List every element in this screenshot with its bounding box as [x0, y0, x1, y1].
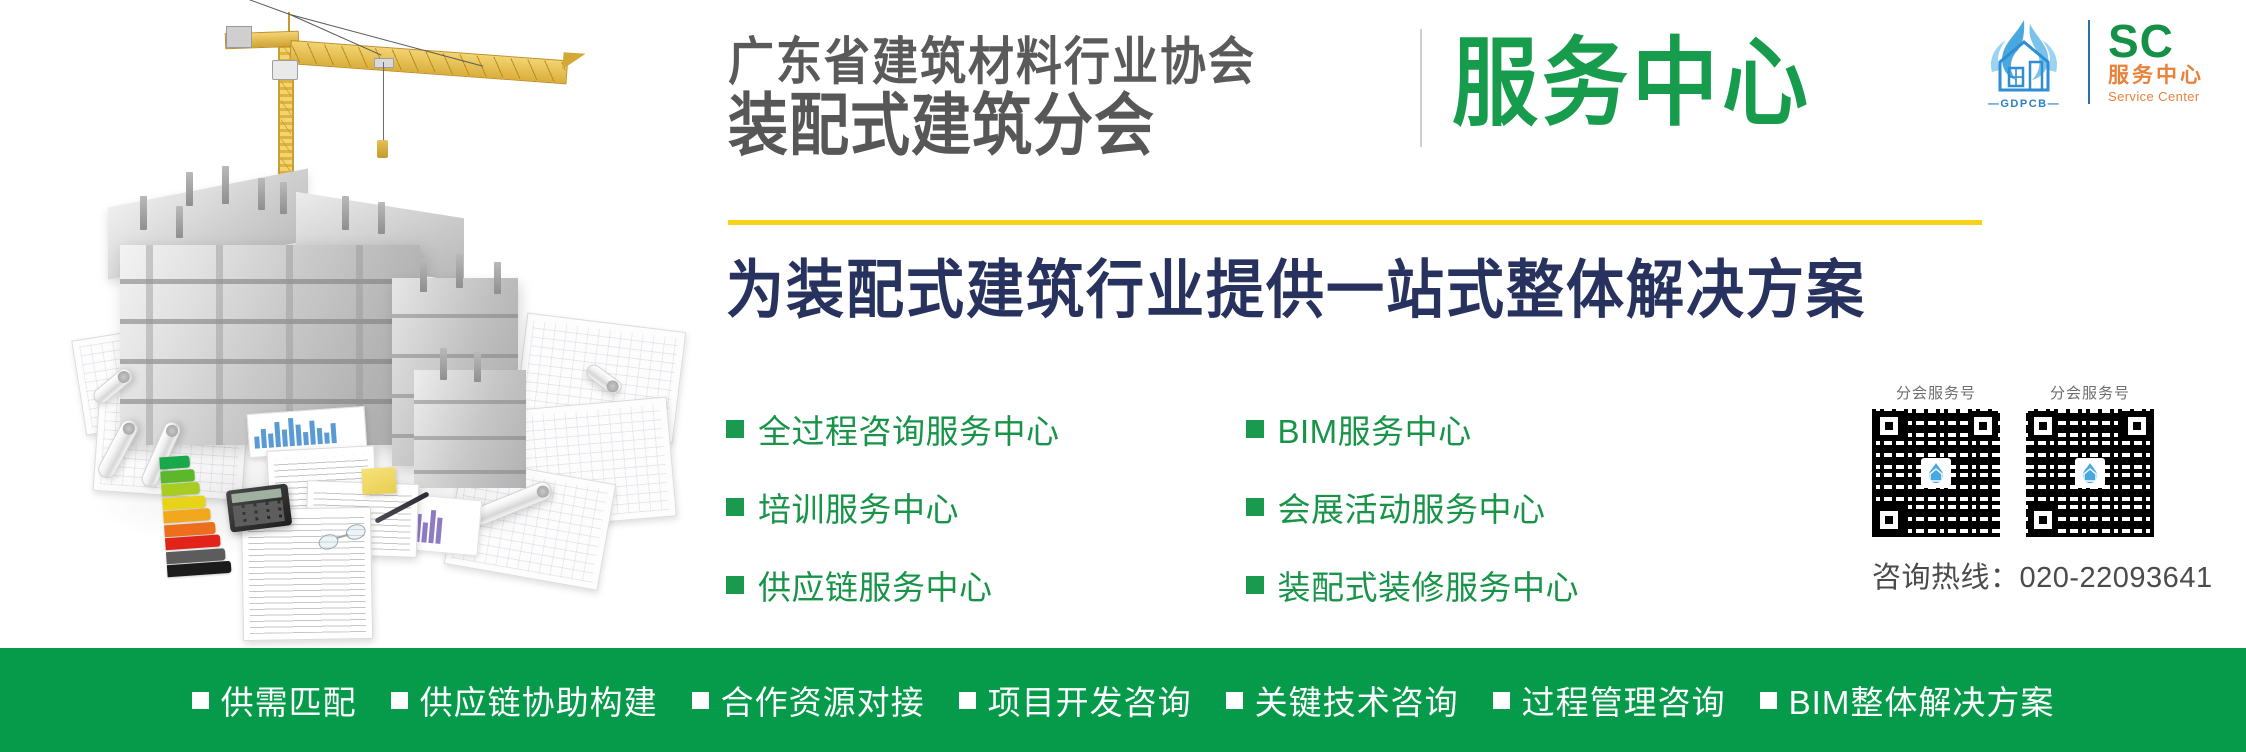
footer-label: 过程管理咨询 — [1522, 676, 1726, 724]
qr-embedded-logo-icon — [2075, 458, 2105, 488]
energy-grade-bar — [162, 495, 205, 510]
sc-chinese-label: 服务中心 — [2108, 65, 2204, 86]
square-bullet-icon — [726, 576, 744, 594]
footer-label: 供应链协助构建 — [420, 676, 658, 724]
square-bullet-icon — [192, 692, 209, 709]
service-list-left: 全过程咨询服务中心 培训服务中心 供应链服务中心 — [726, 405, 1060, 609]
list-item[interactable]: 培训服务中心 — [726, 483, 1060, 531]
qr-code-cell[interactable]: 分会服务号 — [1872, 382, 2000, 537]
qr-caption: 分会服务号 — [2050, 382, 2130, 403]
energy-grade-bar — [160, 469, 195, 483]
service-center-lists: 全过程咨询服务中心 培训服务中心 供应链服务中心 BIM服务中心 会展活动服务中… — [726, 405, 1579, 609]
service-label: 培训服务中心 — [758, 483, 959, 531]
crane-hook — [377, 140, 388, 158]
list-item[interactable]: 会展活动服务中心 — [1246, 483, 1580, 531]
footer-label: 合作资源对接 — [721, 676, 925, 724]
service-label: 供应链服务中心 — [758, 561, 993, 609]
square-bullet-icon — [726, 420, 744, 438]
square-bullet-icon — [1760, 692, 1777, 709]
list-item[interactable]: 全过程咨询服务中心 — [726, 405, 1060, 453]
qr-embedded-logo-icon — [1921, 458, 1951, 488]
logo-divider — [2088, 20, 2090, 104]
calculator-icon — [226, 483, 293, 532]
qr-caption: 分会服务号 — [1896, 382, 1976, 403]
page-title: 服务中心 — [1452, 36, 1812, 132]
list-item[interactable]: 关键技术咨询 — [1226, 676, 1459, 724]
list-item[interactable]: 合作资源对接 — [692, 676, 925, 724]
construction-hero-image — [0, 0, 700, 648]
service-label: 装配式装修服务中心 — [1278, 561, 1580, 609]
footer-label: 关键技术咨询 — [1255, 676, 1459, 724]
service-label: 会展活动服务中心 — [1278, 483, 1546, 531]
sticky-note — [361, 467, 396, 495]
service-label: BIM服务中心 — [1278, 405, 1472, 453]
energy-grade-bar — [161, 482, 200, 497]
crane-counterweight — [226, 26, 252, 48]
gdpcb-wordmark: —GDPCB— — [1978, 98, 2070, 110]
square-bullet-icon — [959, 692, 976, 709]
building-wing-low — [414, 370, 526, 488]
list-item[interactable]: BIM服务中心 — [1246, 405, 1580, 453]
energy-grade-bar — [159, 455, 190, 469]
square-bullet-icon — [1226, 692, 1243, 709]
sc-initials: SC — [2108, 20, 2174, 64]
crane-cab — [272, 60, 298, 80]
square-bullet-icon — [1493, 692, 1510, 709]
energy-grade-bar — [167, 561, 231, 577]
list-item[interactable]: 供应链服务中心 — [726, 561, 1060, 609]
qr-code-cell[interactable]: 分会服务号 — [2026, 382, 2154, 537]
list-item[interactable]: BIM整体解决方案 — [1760, 676, 2055, 724]
promotional-banner: 广东省建筑材料行业协会 装配式建筑分会 服务中心 为装配式建筑行业提供一站式整体… — [0, 0, 2246, 752]
energy-rating-chart — [159, 453, 234, 565]
house-flame-icon — [1924, 461, 1948, 485]
sc-english-label: Service Center — [2108, 89, 2200, 104]
list-item[interactable]: 过程管理咨询 — [1493, 676, 1726, 724]
gdpcb-logo-icon: —GDPCB— — [1978, 16, 2070, 108]
yellow-divider — [728, 220, 1982, 225]
service-label: 全过程咨询服务中心 — [758, 405, 1060, 453]
qr-code-group: 分会服务号 分会服务号 — [1872, 382, 2154, 537]
footer-label: 项目开发咨询 — [988, 676, 1192, 724]
footer-label: BIM整体解决方案 — [1789, 676, 2055, 724]
crane-jib — [289, 40, 568, 84]
square-bullet-icon — [1246, 420, 1264, 438]
tagline: 为装配式建筑行业提供一站式整体解决方案 — [726, 258, 1866, 325]
logo-lockup: —GDPCB— SC 服务中心 Service Center — [1978, 16, 2204, 108]
list-item[interactable]: 供应链协助构建 — [391, 676, 658, 724]
header-vertical-divider — [1420, 29, 1422, 147]
crane-trolley — [374, 58, 394, 68]
sc-wordmark: SC 服务中心 Service Center — [2108, 20, 2204, 105]
house-flame-icon — [1978, 16, 2070, 94]
qr-code-image[interactable] — [2026, 409, 2154, 537]
hotline-text: 咨询热线：020-22093641 — [1872, 554, 2213, 596]
footer-capability-bar: 供需匹配 供应链协助构建 合作资源对接 项目开发咨询 关键技术咨询 过程管理咨询… — [0, 648, 2246, 752]
energy-grade-bar — [165, 534, 221, 550]
list-item[interactable]: 供需匹配 — [192, 676, 357, 724]
association-name-line2: 装配式建筑分会 — [728, 91, 1408, 161]
square-bullet-icon — [1246, 498, 1264, 516]
energy-grade-bar — [163, 508, 211, 523]
footer-label: 供需匹配 — [221, 676, 357, 724]
qr-code-image[interactable] — [1872, 409, 2000, 537]
square-bullet-icon — [692, 692, 709, 709]
list-item[interactable]: 装配式装修服务中心 — [1246, 561, 1580, 609]
square-bullet-icon — [726, 498, 744, 516]
association-name: 广东省建筑材料行业协会 装配式建筑分会 — [728, 36, 1408, 152]
square-bullet-icon — [391, 692, 408, 709]
square-bullet-icon — [1246, 576, 1264, 594]
house-flame-icon — [2078, 461, 2102, 485]
list-item[interactable]: 项目开发咨询 — [959, 676, 1192, 724]
service-list-right: BIM服务中心 会展活动服务中心 装配式装修服务中心 — [1246, 405, 1580, 609]
association-name-line1: 广东省建筑材料行业协会 — [728, 36, 1408, 89]
